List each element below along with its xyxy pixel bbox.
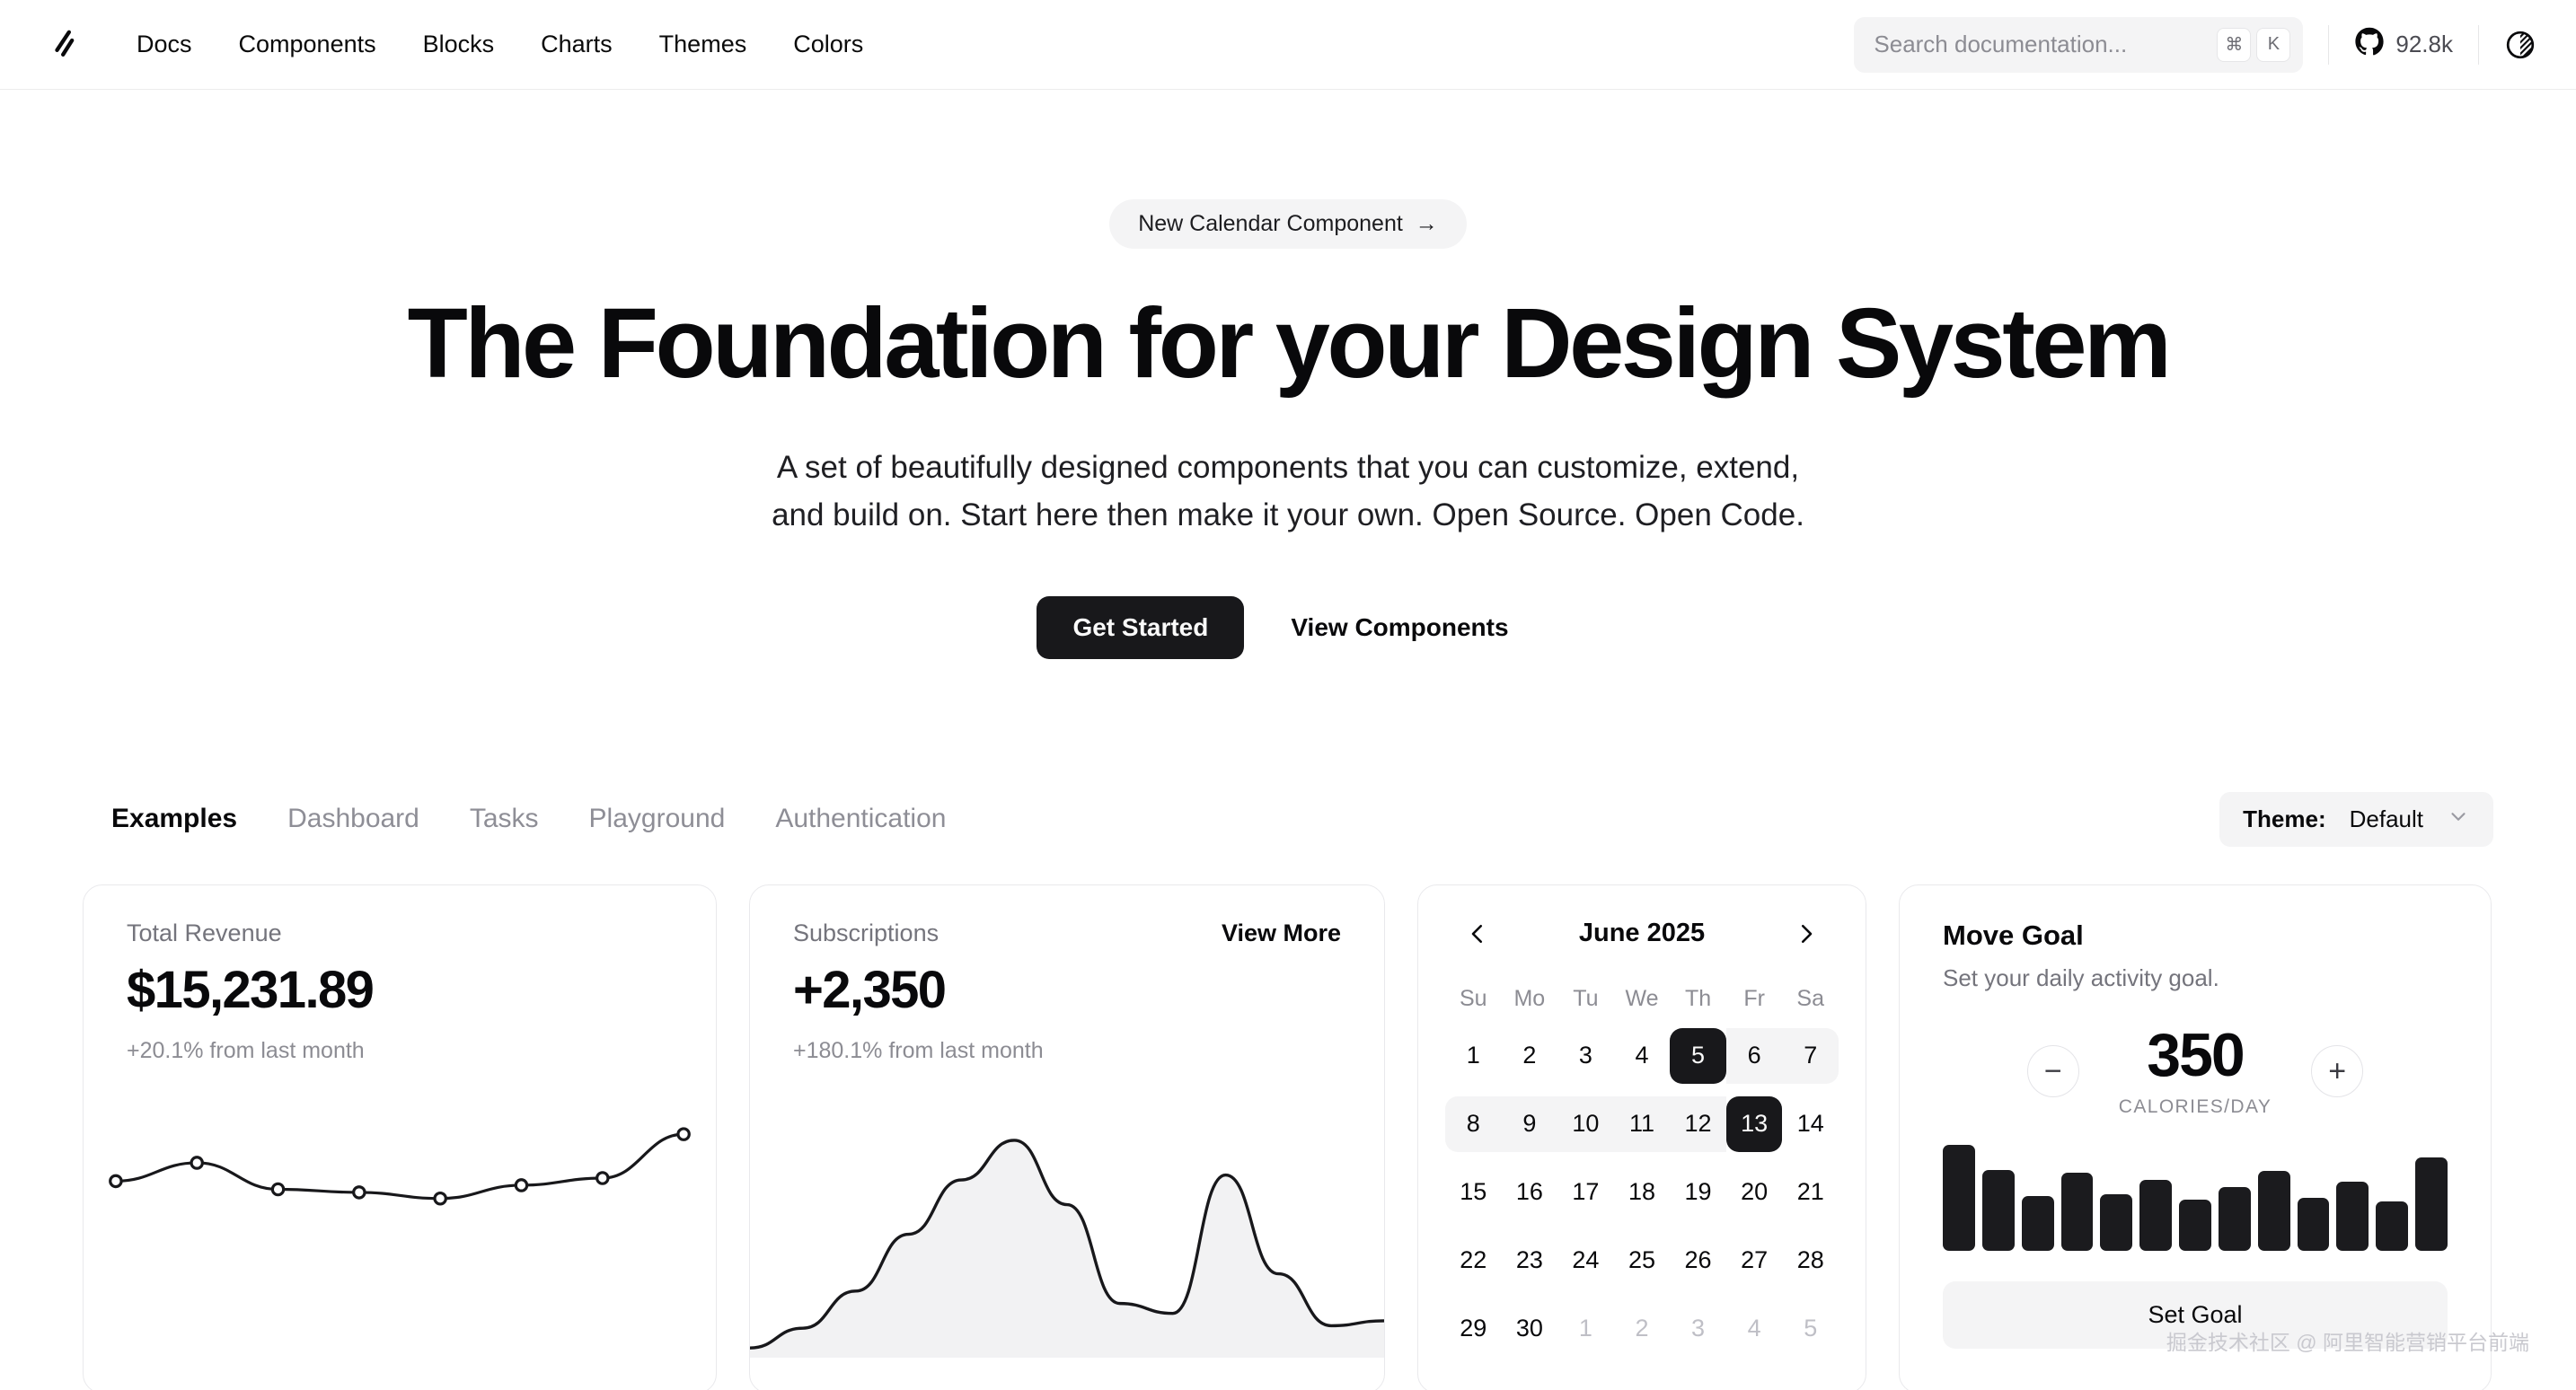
announcement-badge[interactable]: New Calendar Component → xyxy=(1109,199,1467,249)
calendar-row-spacer xyxy=(1445,1289,1839,1301)
chevron-left-icon[interactable] xyxy=(1456,912,1499,955)
hero-section: New Calendar Component → The Foundation … xyxy=(0,90,2576,659)
calendar-day-14[interactable]: 14 xyxy=(1782,1096,1839,1152)
header-actions: Search documentation... ⌘ K 92.8k xyxy=(1854,17,2536,73)
calendar-day-17[interactable]: 17 xyxy=(1557,1165,1614,1220)
examples-toolbar: Examples Dashboard Tasks Playground Auth… xyxy=(0,792,2576,847)
kbd-command-icon: ⌘ xyxy=(2217,28,2251,62)
nav-item-blocks[interactable]: Blocks xyxy=(400,23,518,66)
search-input[interactable]: Search documentation... ⌘ K xyxy=(1854,17,2303,73)
activity-bar xyxy=(2022,1196,2054,1251)
activity-bar xyxy=(2139,1180,2172,1251)
hero-subtitle: A set of beautifully designed components… xyxy=(0,444,2576,539)
calendar-day-13[interactable]: 13 xyxy=(1726,1096,1783,1152)
calendar-day-30[interactable]: 30 xyxy=(1502,1301,1558,1357)
calendar-day-3[interactable]: 3 xyxy=(1557,1028,1614,1084)
total-revenue-delta: +20.1% from last month xyxy=(127,1038,673,1064)
calendar-weekday-label: We xyxy=(1614,979,1671,1028)
decrement-goal-button[interactable]: − xyxy=(2027,1045,2079,1097)
subscriptions-area-chart xyxy=(750,1098,1384,1358)
calendar-day-16[interactable]: 16 xyxy=(1502,1165,1558,1220)
subscriptions-delta: +180.1% from last month xyxy=(793,1038,1044,1064)
calendar-header: June 2025 xyxy=(1445,912,1839,979)
calendar-row-spacer xyxy=(1445,1357,1839,1369)
activity-bar xyxy=(2219,1187,2251,1251)
calendar-day-5[interactable]: 5 xyxy=(1782,1301,1839,1357)
nav-item-colors[interactable]: Colors xyxy=(770,23,887,66)
activity-bar xyxy=(2061,1173,2094,1251)
header-divider-1 xyxy=(2328,25,2329,65)
calendar-weekday-label: Sa xyxy=(1782,979,1839,1028)
calendar-day-25[interactable]: 25 xyxy=(1614,1233,1671,1289)
calendar-day-5[interactable]: 5 xyxy=(1670,1028,1726,1084)
calendar-day-7[interactable]: 7 xyxy=(1782,1028,1839,1084)
header-divider-2 xyxy=(2478,25,2479,65)
calendar-day-6[interactable]: 6 xyxy=(1726,1028,1783,1084)
calendar-row-spacer xyxy=(1445,1220,1839,1233)
calendar-day-27[interactable]: 27 xyxy=(1726,1233,1783,1289)
calendar-day-23[interactable]: 23 xyxy=(1502,1233,1558,1289)
calendar-day-2[interactable]: 2 xyxy=(1502,1028,1558,1084)
calendar-day-1[interactable]: 1 xyxy=(1445,1028,1502,1084)
get-started-button[interactable]: Get Started xyxy=(1037,596,1244,659)
calendar-day-26[interactable]: 26 xyxy=(1670,1233,1726,1289)
hero-subtitle-line-2: and build on. Start here then make it yo… xyxy=(0,491,2576,539)
calendar-day-29[interactable]: 29 xyxy=(1445,1301,1502,1357)
move-goal-card: Move Goal Set your daily activity goal. … xyxy=(1899,884,2492,1390)
activity-bar xyxy=(2376,1201,2408,1251)
calendar-day-20[interactable]: 20 xyxy=(1726,1165,1783,1220)
activity-bar xyxy=(2415,1157,2448,1251)
hero-subtitle-line-1: A set of beautifully designed components… xyxy=(0,444,2576,491)
move-goal-value: 350 xyxy=(2119,1025,2272,1086)
slash-logo-icon[interactable] xyxy=(40,21,88,69)
arrow-right-icon: → xyxy=(1416,211,1438,237)
calendar-day-21[interactable]: 21 xyxy=(1782,1165,1839,1220)
calendar-day-8[interactable]: 8 xyxy=(1445,1096,1502,1152)
calendar-row-spacer xyxy=(1445,1084,1839,1096)
calendar-day-1[interactable]: 1 xyxy=(1557,1301,1614,1357)
subscriptions-label: Subscriptions xyxy=(793,919,1044,947)
github-icon xyxy=(2354,27,2385,62)
calendar-day-22[interactable]: 22 xyxy=(1445,1233,1502,1289)
theme-picker-label: Theme: xyxy=(2243,805,2325,833)
calendar-day-2[interactable]: 2 xyxy=(1614,1301,1671,1357)
total-revenue-label: Total Revenue xyxy=(127,919,673,947)
hero-cta-group: Get Started View Components xyxy=(0,596,2576,659)
search-placeholder: Search documentation... xyxy=(1874,31,2211,58)
calendar-weekday-label: Tu xyxy=(1557,979,1614,1028)
github-star-count: 92.8k xyxy=(2395,31,2453,58)
calendar-day-10[interactable]: 10 xyxy=(1557,1096,1614,1152)
calendar-day-19[interactable]: 19 xyxy=(1670,1165,1726,1220)
nav-item-docs[interactable]: Docs xyxy=(113,23,216,66)
theme-picker-value: Default xyxy=(2350,805,2423,833)
calendar-day-4[interactable]: 4 xyxy=(1614,1028,1671,1084)
move-goal-unit: CALORIES/DAY xyxy=(2119,1096,2272,1118)
move-goal-title: Move Goal xyxy=(1943,919,2448,952)
calendar-weekday-label: Th xyxy=(1670,979,1726,1028)
calendar-day-9[interactable]: 9 xyxy=(1502,1096,1558,1152)
theme-picker[interactable]: Theme: Default xyxy=(2219,792,2493,847)
total-revenue-card: Total Revenue $15,231.89 +20.1% from las… xyxy=(83,884,717,1390)
calendar-month-title: June 2025 xyxy=(1579,919,1705,948)
activity-bar xyxy=(1982,1170,2015,1251)
move-goal-stepper: − 350 CALORIES/DAY + xyxy=(1943,1025,2448,1118)
nav-item-components[interactable]: Components xyxy=(216,23,400,66)
github-link[interactable]: 92.8k xyxy=(2354,27,2453,62)
kbd-k: K xyxy=(2256,28,2290,62)
view-components-button[interactable]: View Components xyxy=(1260,596,1539,659)
chevron-right-icon[interactable] xyxy=(1785,912,1828,955)
activity-bar xyxy=(1943,1145,1975,1251)
site-header: Docs Components Blocks Charts Themes Col… xyxy=(0,0,2576,90)
calendar-day-3[interactable]: 3 xyxy=(1670,1301,1726,1357)
total-revenue-sparkline-chart xyxy=(84,1098,716,1251)
tab-authentication[interactable]: Authentication xyxy=(750,798,971,840)
move-goal-activity-chart xyxy=(1943,1145,2448,1251)
set-goal-button[interactable]: Set Goal xyxy=(1943,1281,2448,1349)
activity-bar xyxy=(2258,1171,2290,1251)
activity-bar xyxy=(2298,1198,2330,1251)
total-revenue-value: $15,231.89 xyxy=(127,960,673,1020)
calendar-day-18[interactable]: 18 xyxy=(1614,1165,1671,1220)
calendar-day-4[interactable]: 4 xyxy=(1726,1301,1783,1357)
calendar-weekday-label: Mo xyxy=(1502,979,1558,1028)
subscriptions-card: Subscriptions +2,350 +180.1% from last m… xyxy=(749,884,1385,1390)
announcement-badge-label: New Calendar Component xyxy=(1138,211,1403,237)
tab-tasks[interactable]: Tasks xyxy=(445,798,564,840)
activity-bar xyxy=(2100,1194,2132,1251)
page-title: The Foundation for your Design System xyxy=(0,292,2576,397)
chevron-down-icon xyxy=(2447,805,2470,834)
calendar-day-15[interactable]: 15 xyxy=(1445,1165,1502,1220)
tab-dashboard[interactable]: Dashboard xyxy=(262,798,445,840)
examples-card-grid: Total Revenue $15,231.89 +20.1% from las… xyxy=(0,884,2576,1390)
subscriptions-value: +2,350 xyxy=(793,960,1044,1020)
calendar-weekday-label: Su xyxy=(1445,979,1502,1028)
tab-playground[interactable]: Playground xyxy=(564,798,751,840)
nav-item-themes[interactable]: Themes xyxy=(636,23,771,66)
calendar-row-spacer xyxy=(1445,1152,1839,1165)
activity-bar xyxy=(2336,1182,2369,1251)
contrast-theme-icon[interactable] xyxy=(2504,29,2536,61)
calendar-day-11[interactable]: 11 xyxy=(1614,1096,1671,1152)
calendar-day-24[interactable]: 24 xyxy=(1557,1233,1614,1289)
calendar-weekday-label: Fr xyxy=(1726,979,1783,1028)
view-more-button[interactable]: View More xyxy=(1222,919,1341,947)
increment-goal-button[interactable]: + xyxy=(2311,1045,2363,1097)
examples-tabs: Examples Dashboard Tasks Playground Auth… xyxy=(83,798,971,840)
move-goal-description: Set your daily activity goal. xyxy=(1943,964,2448,992)
calendar-day-28[interactable]: 28 xyxy=(1782,1233,1839,1289)
calendar-day-12[interactable]: 12 xyxy=(1670,1096,1726,1152)
main-nav: Docs Components Blocks Charts Themes Col… xyxy=(113,23,887,66)
tab-examples[interactable]: Examples xyxy=(83,798,262,840)
calendar-card: June 2025 SuMoTuWeThFrSa1234567891011121… xyxy=(1417,884,1866,1390)
nav-item-charts[interactable]: Charts xyxy=(517,23,636,66)
calendar-grid: SuMoTuWeThFrSa12345678910111213141516171… xyxy=(1445,979,1839,1369)
activity-bar xyxy=(2179,1200,2211,1251)
